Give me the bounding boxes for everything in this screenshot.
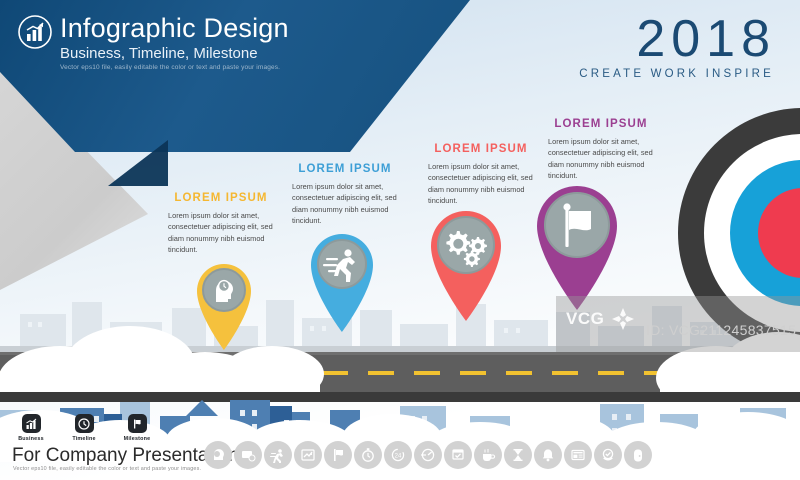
presentation-board-icon[interactable] <box>234 441 262 469</box>
growth-chart-icon[interactable] <box>294 441 322 469</box>
legend-label-business: Business <box>18 436 44 442</box>
watermark-brand: VCG <box>566 309 604 329</box>
milestone-block-4: LOREM IPSUM Lorem ipsum dolor sit amet, … <box>548 118 654 181</box>
milestone-heading-1: LOREM IPSUM <box>168 192 274 204</box>
header-note: Vector eps10 file, easily editable the c… <box>60 64 280 71</box>
hourglass-icon[interactable] <box>504 441 532 469</box>
bar-chart-icon <box>22 414 41 433</box>
milestone-block-1: LOREM IPSUM Lorem ipsum dolor sit amet, … <box>168 192 274 255</box>
legend-item-milestone: Milestone <box>120 414 154 442</box>
map-pin-1[interactable] <box>193 258 255 350</box>
map-pin-2[interactable] <box>307 228 377 332</box>
speedometer-icon[interactable] <box>414 441 442 469</box>
head-idea-icon <box>216 281 233 302</box>
map-pin-3[interactable] <box>427 205 505 321</box>
footer-note: Vector eps10 file, easily editable the c… <box>13 466 201 472</box>
watermark-logo: VCG <box>566 306 636 332</box>
news-icon[interactable] <box>564 441 592 469</box>
flag-icon <box>128 414 147 433</box>
milestone-body-1: Lorem ipsum dolor sit amet, consectetuer… <box>168 210 274 255</box>
milestone-heading-2: LOREM IPSUM <box>292 163 398 175</box>
infographic-canvas: Infographic Design Business, Timeline, M… <box>0 0 800 480</box>
map-pin-4[interactable] <box>533 180 621 310</box>
icon-strip: 24 <box>204 441 652 469</box>
coffee-cup-icon[interactable] <box>474 441 502 469</box>
door-icon[interactable] <box>624 441 652 469</box>
svg-text:24: 24 <box>395 453 402 459</box>
head-idea-icon[interactable] <box>204 441 232 469</box>
year-tagline: CREATE WORK INSPIRE <box>579 68 774 80</box>
milestone-block-2: LOREM IPSUM Lorem ipsum dolor sit amet, … <box>292 163 398 226</box>
milestone-block-3: LOREM IPSUM Lorem ipsum dolor sit amet, … <box>428 143 534 206</box>
24-hours-icon[interactable]: 24 <box>384 441 412 469</box>
bar-chart-circle-icon <box>17 14 53 50</box>
page-subtitle: Business, Timeline, Milestone <box>60 45 258 62</box>
milestone-body-3: Lorem ipsum dolor sit amet, consectetuer… <box>428 161 534 206</box>
legend: Business Timeline Milestone <box>14 414 154 442</box>
clock-icon <box>75 414 94 433</box>
milestone-body-4: Lorem ipsum dolor sit amet, consectetuer… <box>548 136 654 181</box>
watermark-mark-icon <box>610 306 636 332</box>
flag-icon[interactable] <box>324 441 352 469</box>
alarm-bell-icon[interactable] <box>534 441 562 469</box>
year-label: 2018 <box>636 13 776 65</box>
running-person-icon[interactable] <box>264 441 292 469</box>
milestone-heading-3: LOREM IPSUM <box>428 143 534 155</box>
legend-item-business: Business <box>14 414 48 442</box>
target-check-icon[interactable] <box>594 441 622 469</box>
milestone-heading-4: LOREM IPSUM <box>548 118 654 130</box>
stopwatch-icon[interactable] <box>354 441 382 469</box>
milestone-body-2: Lorem ipsum dolor sit amet, consectetuer… <box>292 181 398 226</box>
legend-item-timeline: Timeline <box>67 414 101 442</box>
calendar-check-icon[interactable] <box>444 441 472 469</box>
legend-label-milestone: Milestone <box>124 436 151 442</box>
page-title: Infographic Design <box>60 13 289 44</box>
legend-label-timeline: Timeline <box>72 436 95 442</box>
watermark-id: ID: VCG211245837515 <box>646 322 796 338</box>
